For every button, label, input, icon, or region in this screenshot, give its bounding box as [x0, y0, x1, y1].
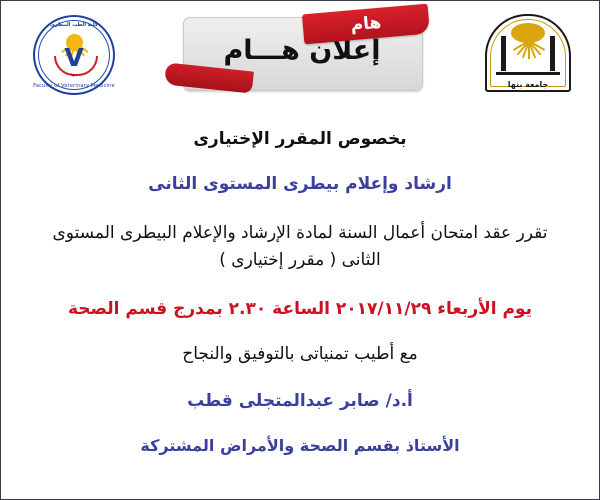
seal-sub-text: بنها — [33, 72, 115, 77]
pillar-icon — [501, 36, 506, 71]
pillar-icon — [550, 36, 555, 71]
announcement-content: بخصوص المقرر الإختيارى ارشاد وإعلام بيطر… — [1, 128, 599, 457]
subject-line: بخصوص المقرر الإختيارى — [37, 128, 563, 151]
faculty-of-veterinary-medicine-logo: كلية الطب البيطرى V بنها Faculty of Vete… — [33, 15, 115, 95]
emblem-base-line — [496, 72, 560, 75]
page-header: كلية الطب البيطرى V بنها Faculty of Vete… — [1, 1, 599, 106]
wishes-line: مع أطيب تمنياتى بالتوفيق والنجاح — [37, 343, 563, 366]
banner-title: إعلان هـــام — [183, 35, 421, 66]
sun-icon — [511, 23, 545, 43]
announcement-banner: إعلان هـــام هام — [183, 9, 421, 89]
datetime-line: يوم الأربعاء ٢٠١٧/١١/٢٩ الساعة ٢.٣٠ بمدر… — [37, 298, 563, 321]
seal-english-text: Faculty of Veterinary Medicine — [33, 83, 115, 89]
signature-title: الأستاذ بقسم الصحة والأمراض المشتركة — [37, 435, 563, 457]
seal-arabic-text: كلية الطب البيطرى — [33, 22, 115, 28]
signature-name: أ.د/ صابر عبدالمتجلى قطب — [37, 390, 563, 413]
course-line: ارشاد وإعلام بيطرى المستوى الثانى — [37, 173, 563, 196]
announcement-page: كلية الطب البيطرى V بنها Faculty of Vete… — [0, 0, 600, 500]
body-paragraph: تقرر عقد امتحان أعمال السنة لمادة الإرشا… — [37, 220, 563, 274]
university-logo: جامعة بنها — [485, 14, 571, 92]
university-name: جامعة بنها — [485, 80, 571, 89]
